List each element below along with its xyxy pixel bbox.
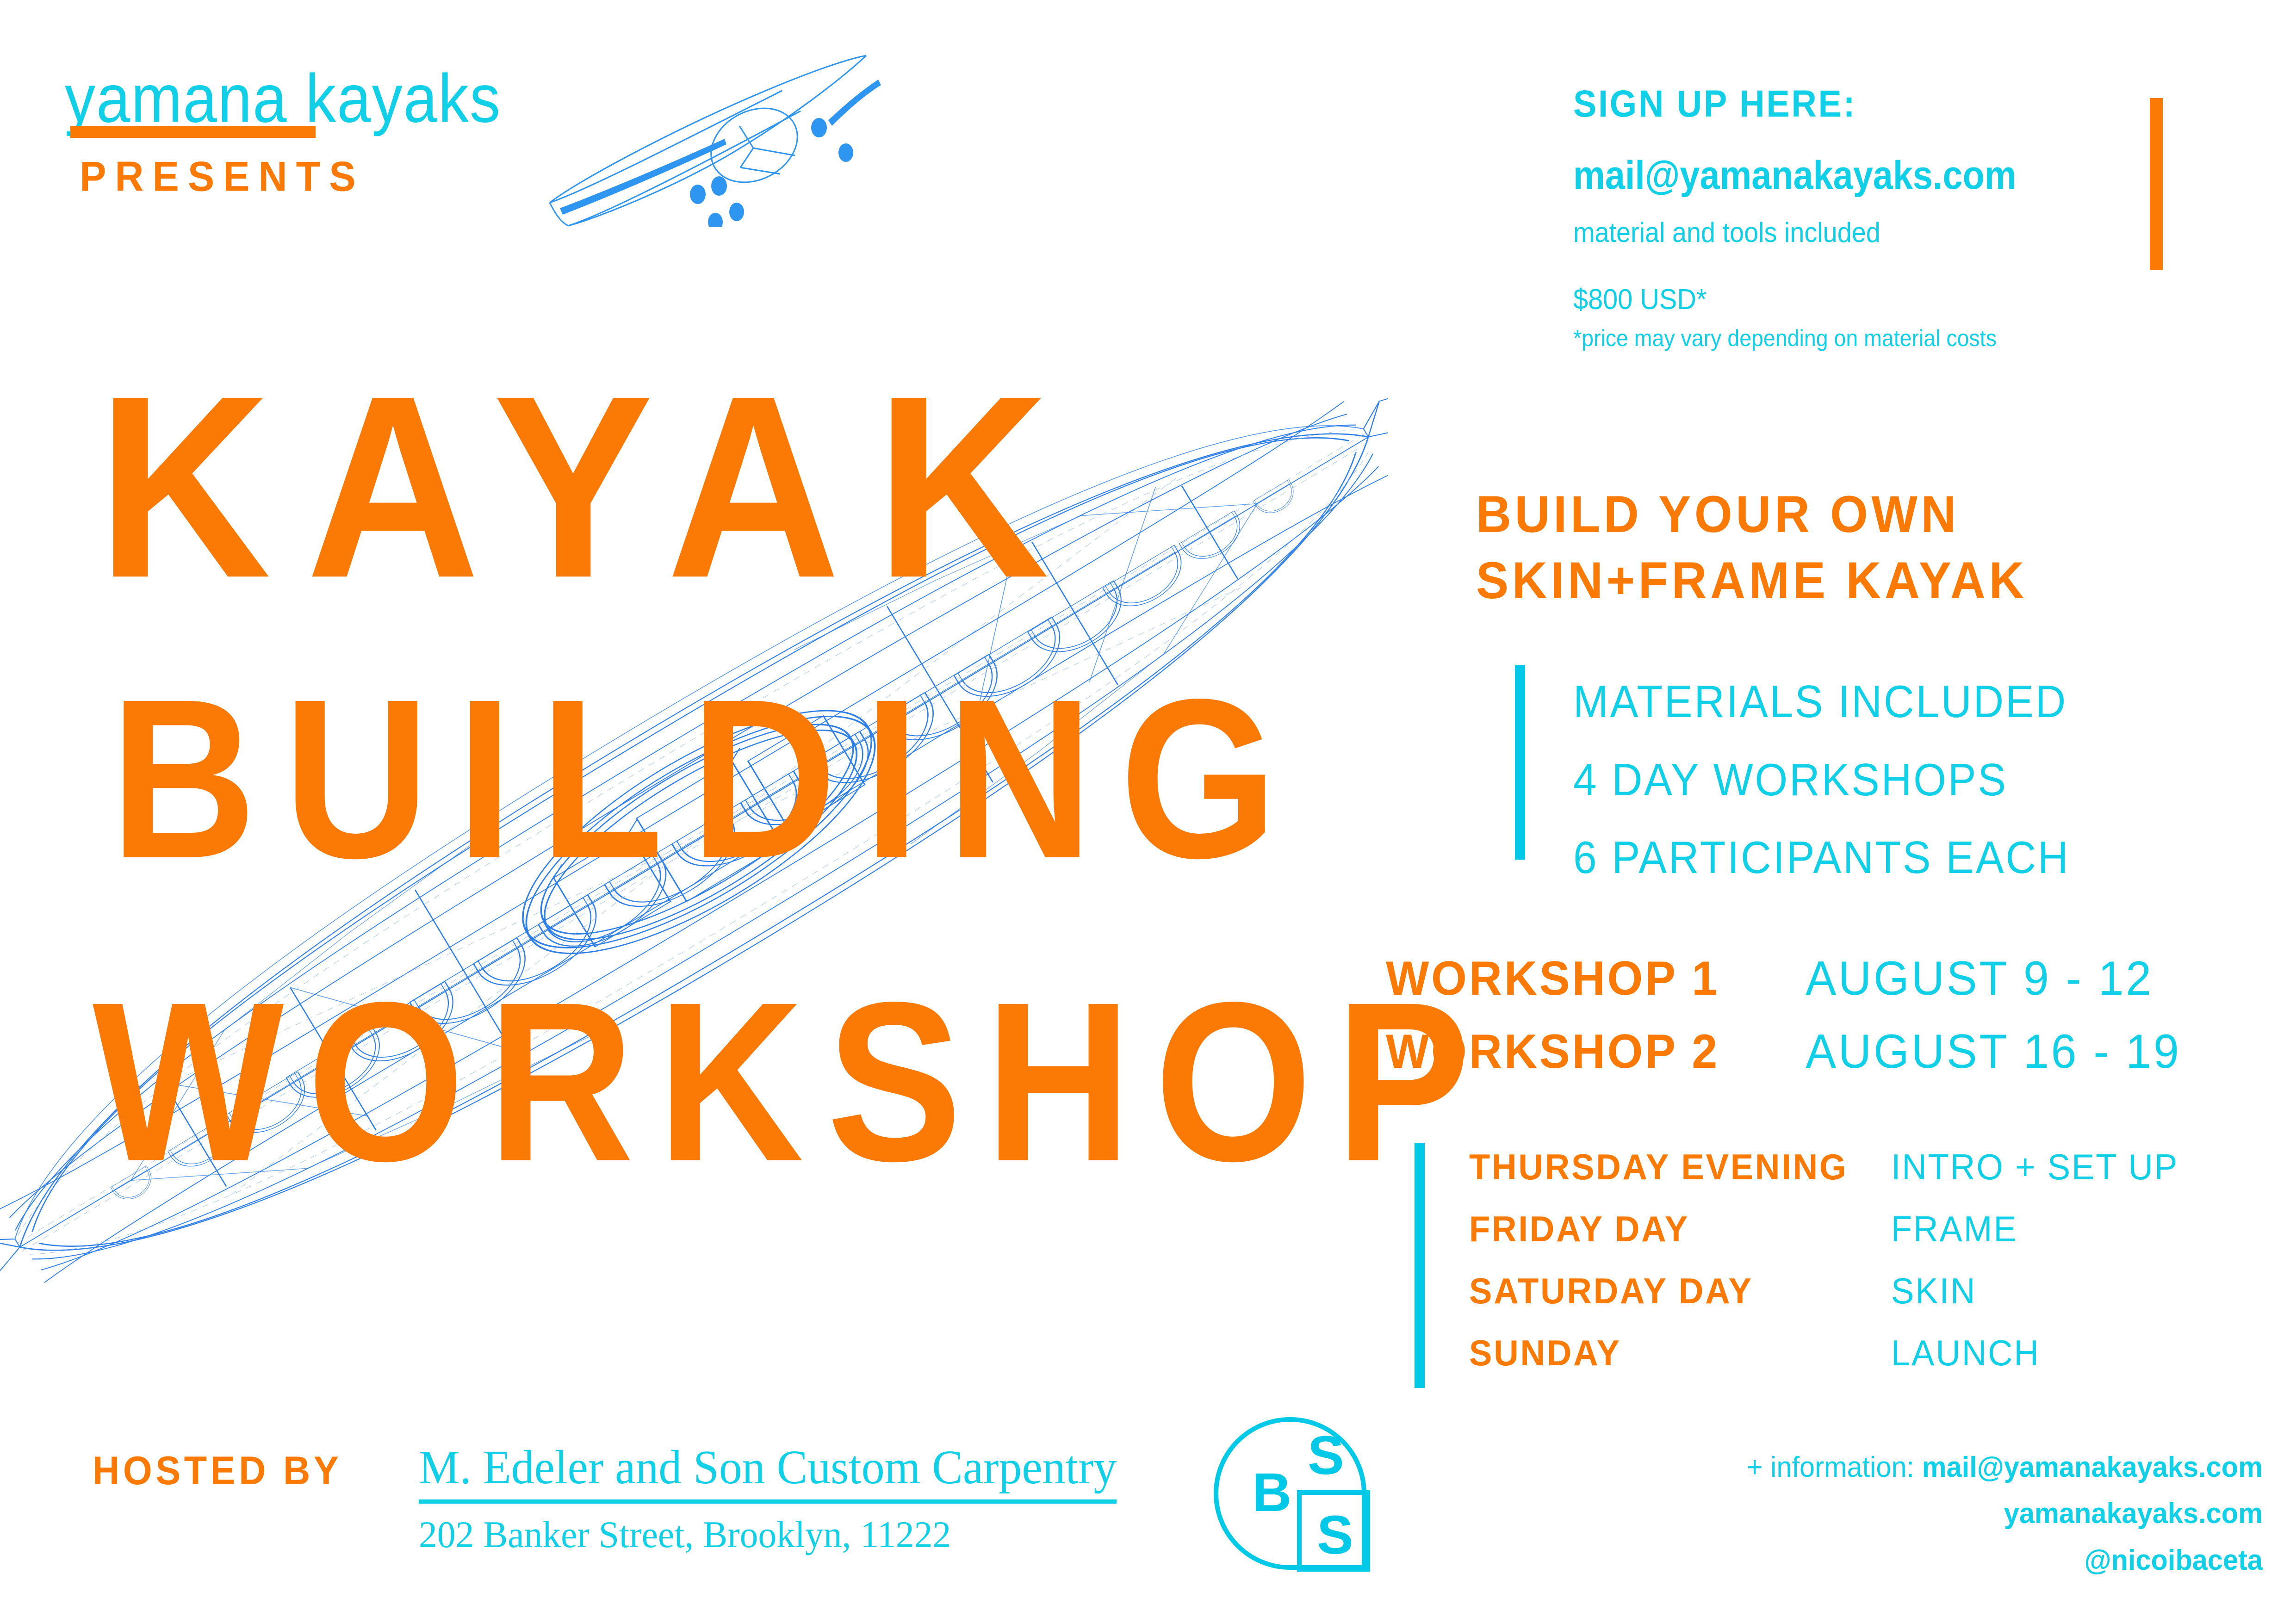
contact-email-link[interactable]: mail@yamanakayaks.com [1922, 1451, 2263, 1483]
schedule-row: THURSDAY EVENING INTRO + SET UP [1469, 1136, 2243, 1198]
workshop-date-row: WORKSHOP 1 AUGUST 9 - 12 [1386, 942, 2221, 1015]
schedule-accent-rule [1415, 1143, 1425, 1388]
signup-email-link[interactable]: mail@yamanakayaks.com [1573, 153, 2017, 198]
workshop-dates: AUGUST 16 - 19 [1806, 1015, 2181, 1088]
workshop-label: WORKSHOP 1 [1386, 942, 1806, 1015]
kayak-sketch-icon [523, 42, 884, 227]
bss-host-logo: S B S [1211, 1415, 1387, 1595]
page-title-line-1: KAYAK [97, 338, 1084, 637]
signup-price: $800 USD* [1573, 283, 1706, 316]
signup-price-disclaimer: *price may vary depending on material co… [1573, 325, 1997, 352]
schedule-row: FRIDAY DAY FRAME [1469, 1198, 2243, 1260]
poster-canvas: yamana kayaks PRESENTS SIGN UP HERE: m [0, 0, 2296, 1623]
schedule-day: SUNDAY [1469, 1322, 1891, 1384]
schedule-activity: SKIN [1891, 1260, 1976, 1322]
brand-underline-rule [70, 126, 316, 138]
page-title-line-3: WORKSHOP [93, 951, 1494, 1212]
contact-info-block: + information: mail@yamanakayaks.com yam… [1699, 1444, 2263, 1584]
bullet-item: MATERIALS INCLUDED [1573, 663, 2070, 741]
subheadline-line-2: SKIN+FRAME KAYAK [1476, 547, 2028, 613]
schedule-row: SATURDAY DAY SKIN [1469, 1260, 2243, 1322]
bullet-item: 6 PARTICIPANTS EACH [1573, 818, 2070, 897]
subheadline-line-1: BUILD YOUR OWN [1476, 481, 2028, 547]
contact-email-row: + information: mail@yamanakayaks.com [1699, 1444, 2263, 1491]
signup-included-note: material and tools included [1573, 217, 1880, 248]
schedule-row: SUNDAY LAUNCH [1469, 1322, 2243, 1384]
signup-heading: SIGN UP HERE: [1573, 82, 1856, 126]
workshop-date-row: WORKSHOP 2 AUGUST 16 - 19 [1386, 1015, 2221, 1088]
schedule-activity: FRAME [1891, 1198, 2018, 1260]
bullets-accent-rule [1515, 665, 1525, 860]
hosted-by-label: HOSTED BY [93, 1448, 342, 1494]
schedule-day: FRIDAY DAY [1469, 1198, 1891, 1260]
contact-lead-label: + information: [1747, 1451, 1922, 1483]
host-address: 202 Banker Street, Brooklyn, 11222 [419, 1513, 951, 1556]
bss-letter-top: S [1308, 1425, 1344, 1486]
page-title-line-2: BUILDING [110, 648, 1304, 909]
workshop-dates-table: WORKSHOP 1 AUGUST 9 - 12 WORKSHOP 2 AUGU… [1386, 942, 2221, 1088]
bss-letter-left: B [1252, 1462, 1291, 1523]
workshop-dates: AUGUST 9 - 12 [1806, 942, 2153, 1015]
signup-accent-rule [2150, 98, 2163, 270]
schedule-activity: INTRO + SET UP [1891, 1136, 2178, 1198]
bullet-item: 4 DAY WORKSHOPS [1573, 741, 2070, 819]
contact-website-link[interactable]: yamanakayaks.com [1699, 1491, 2263, 1537]
bss-letter-square: S [1317, 1505, 1353, 1566]
host-name-link[interactable]: M. Edeler and Son Custom Carpentry [419, 1440, 1117, 1504]
workshop-label: WORKSHOP 2 [1386, 1015, 1806, 1088]
presents-label: PRESENTS [80, 153, 365, 201]
subheadline: BUILD YOUR OWN SKIN+FRAME KAYAK [1476, 481, 2028, 614]
schedule-activity: LAUNCH [1891, 1322, 2040, 1384]
contact-instagram-handle[interactable]: @nicoibaceta [1699, 1537, 2263, 1584]
feature-bullet-list: MATERIALS INCLUDED 4 DAY WORKSHOPS 6 PAR… [1573, 663, 2070, 897]
schedule-day: SATURDAY DAY [1469, 1260, 1891, 1322]
schedule-day: THURSDAY EVENING [1469, 1136, 1891, 1198]
schedule-table: THURSDAY EVENING INTRO + SET UP FRIDAY D… [1469, 1136, 2243, 1384]
